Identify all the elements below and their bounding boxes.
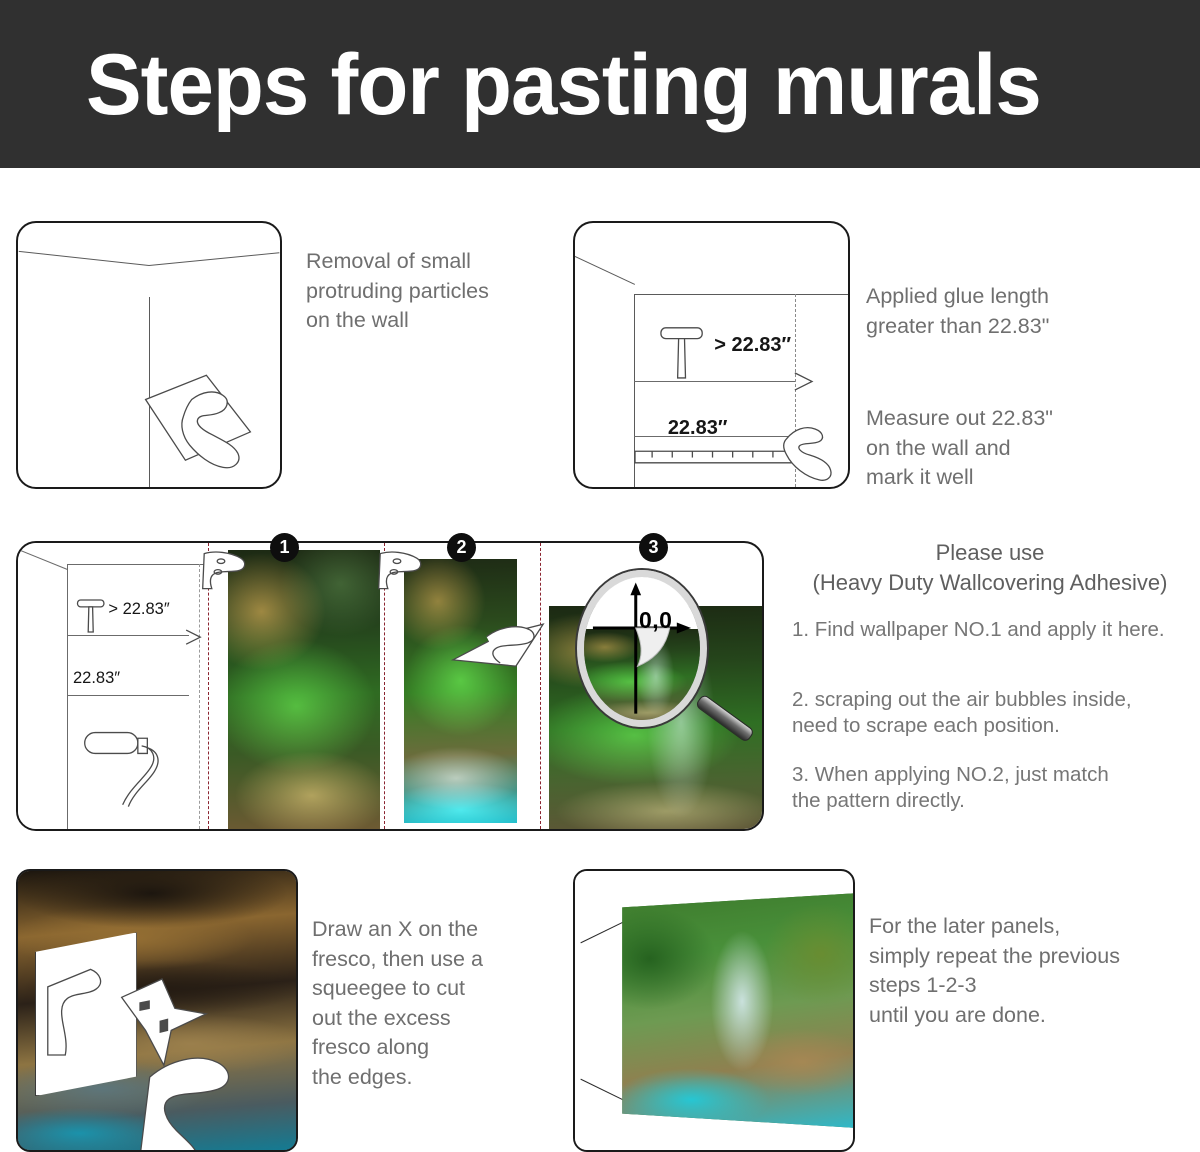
page-title: Steps for pasting murals	[86, 26, 1114, 144]
seam-line-1	[208, 543, 209, 829]
caption-scrape-wall: Removal of small protruding particles on…	[306, 247, 556, 336]
panel-scrape-wall	[16, 221, 282, 489]
apply-glue-length-label: > 22.83″	[108, 600, 169, 619]
mural-strip-2	[404, 559, 517, 824]
origin-label: 0,0	[639, 607, 672, 634]
arrow-right-icon	[791, 363, 829, 400]
step-badge-3: 3	[639, 533, 668, 562]
step-badge-2: 2	[447, 533, 476, 562]
panel-cut-excess	[16, 869, 298, 1152]
panel-finished-wall	[573, 869, 855, 1152]
apply-measure-length-label: 22.83″	[73, 669, 120, 688]
wall-ceiling-left-line	[19, 251, 149, 266]
seam-line-2	[384, 543, 385, 829]
wall-ceiling-diagonal-line	[575, 256, 635, 285]
instruction-2: 2. scraping out the air bubbles inside, …	[792, 687, 1182, 739]
wall-corner-vertical-line	[634, 294, 635, 487]
glue-length-label: > 22.83″	[714, 334, 791, 357]
fresco-sheet	[35, 932, 137, 1096]
apply-wall-drawing: > 22.83″ 22.83″	[18, 543, 214, 829]
instruction-1: 1. Find wallpaper NO.1 and apply it here…	[792, 617, 1192, 643]
tape-measure-icon	[634, 447, 795, 468]
hand-pulling-tape-icon	[777, 410, 848, 487]
caption-cut-excess: Draw an X on the fresco, then use a sque…	[312, 915, 562, 1092]
adhesive-note: Please use (Heavy Duty Wallcovering Adhe…	[790, 538, 1190, 598]
room-side-wall	[575, 871, 622, 1150]
seam-line-3	[540, 543, 541, 829]
adhesive-heading: Please use	[936, 540, 1045, 565]
hand-scraper-icon	[133, 355, 269, 476]
apply-measure-rule-line	[67, 695, 189, 696]
wall-corner-vertical-line	[149, 297, 150, 487]
mural-strip-1	[228, 550, 380, 829]
finished-mural	[622, 893, 853, 1127]
caption-glue-length: Applied glue length greater than 22.83"	[866, 282, 1166, 341]
adhesive-name: (Heavy Duty Wallcovering Adhesive)	[790, 568, 1190, 598]
apply-glue-rule-line	[67, 635, 189, 636]
glue-applicator-icon	[75, 592, 106, 641]
step-badge-1: 1	[270, 533, 299, 562]
wall-ceiling-right-line	[149, 252, 279, 266]
panel-apply-panels: > 22.83″ 22.83″	[16, 541, 764, 831]
wall-ceiling-line	[634, 294, 848, 295]
measure-length-label: 22.83″	[668, 417, 728, 440]
wall-ceiling-line	[67, 564, 214, 565]
wall-ceiling-diagonal-line	[18, 549, 68, 570]
glue-rule-line	[634, 381, 795, 382]
wall-guide-dashed-line	[795, 294, 796, 487]
glue-applicator-icon	[657, 323, 706, 384]
magnifier-icon: 0,0	[577, 570, 707, 727]
wall-corner-vertical-line	[67, 564, 68, 829]
wall-guide-dashed-line	[199, 564, 200, 829]
caption-finished-wall: For the later panels, simply repeat the …	[869, 912, 1199, 1030]
magnifier-lower-half	[584, 629, 700, 721]
instruction-3: 3. When applying NO.2, just match the pa…	[792, 762, 1162, 814]
caption-measure-wall: Measure out 22.83" on the wall and mark …	[866, 404, 1176, 493]
panel-measure-wall: > 22.83″ 22.83″	[573, 221, 850, 489]
paint-roller-icon	[79, 720, 193, 829]
